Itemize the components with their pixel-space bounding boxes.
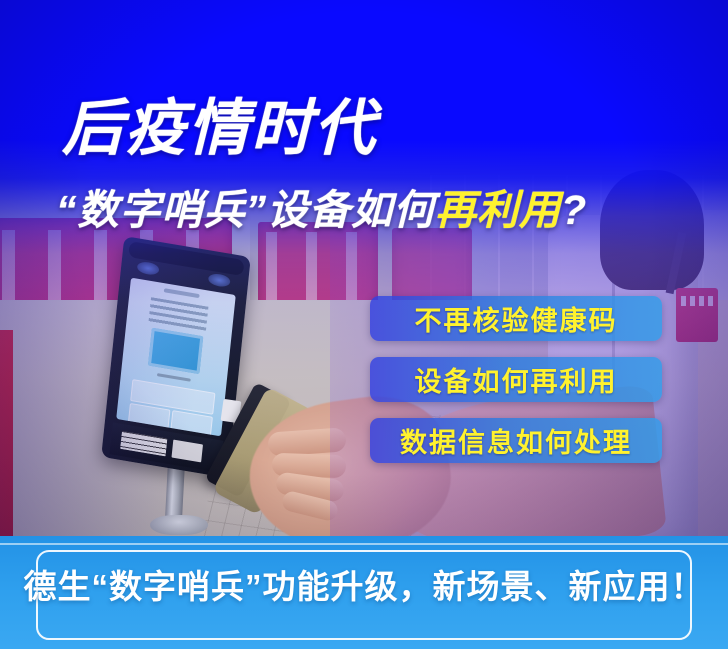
photo-kiosk-camera-left-icon [137, 261, 160, 277]
feature-pill-1[interactable]: 不再核验健康码 [370, 296, 662, 341]
photo-kiosk-screen-subtitle [157, 373, 191, 382]
feature-pill-2[interactable]: 设备如何再利用 [370, 357, 662, 402]
feature-pill-list: 不再核验健康码 设备如何再利用 数据信息如何处理 [370, 296, 662, 479]
photo-red-edge [0, 330, 13, 540]
subtitle-prefix: “数字哨兵”设备如何 [56, 187, 435, 233]
banner-text: 德生“数字哨兵”功能升级，新场景、新应用！ [0, 560, 728, 608]
subtitle-highlight: 再利用 [435, 187, 561, 233]
photo-kiosk-base [150, 515, 208, 535]
poster-root: 后疫情时代 “数字哨兵”设备如何再利用? 不再核验健康码 设备如何再利用 数据信… [0, 0, 728, 649]
page-title: 后疫情时代 [62, 78, 377, 167]
photo-kiosk-screen [116, 278, 236, 437]
subtitle-suffix: ? [561, 187, 587, 233]
photo-staff-hair [600, 170, 704, 290]
feature-pill-label: 数据信息如何处理 [400, 421, 632, 460]
banner-top-rule [0, 543, 728, 545]
feature-pill-label: 设备如何再利用 [415, 360, 618, 399]
feature-pill-label: 不再核验健康码 [415, 299, 618, 338]
photo-kiosk-screen-title [164, 288, 200, 298]
photo-kiosk-qr-code-icon [148, 328, 203, 374]
photo-kiosk-screen-lines [148, 297, 208, 332]
photo-staff-badge-text [681, 296, 713, 306]
bottom-banner: 德生“数字哨兵”功能升级，新场景、新应用！ [0, 536, 728, 649]
feature-pill-3[interactable]: 数据信息如何处理 [370, 418, 662, 463]
page-subtitle: “数字哨兵”设备如何再利用? [56, 176, 587, 236]
photo-kiosk-camera-right-icon [208, 272, 231, 288]
